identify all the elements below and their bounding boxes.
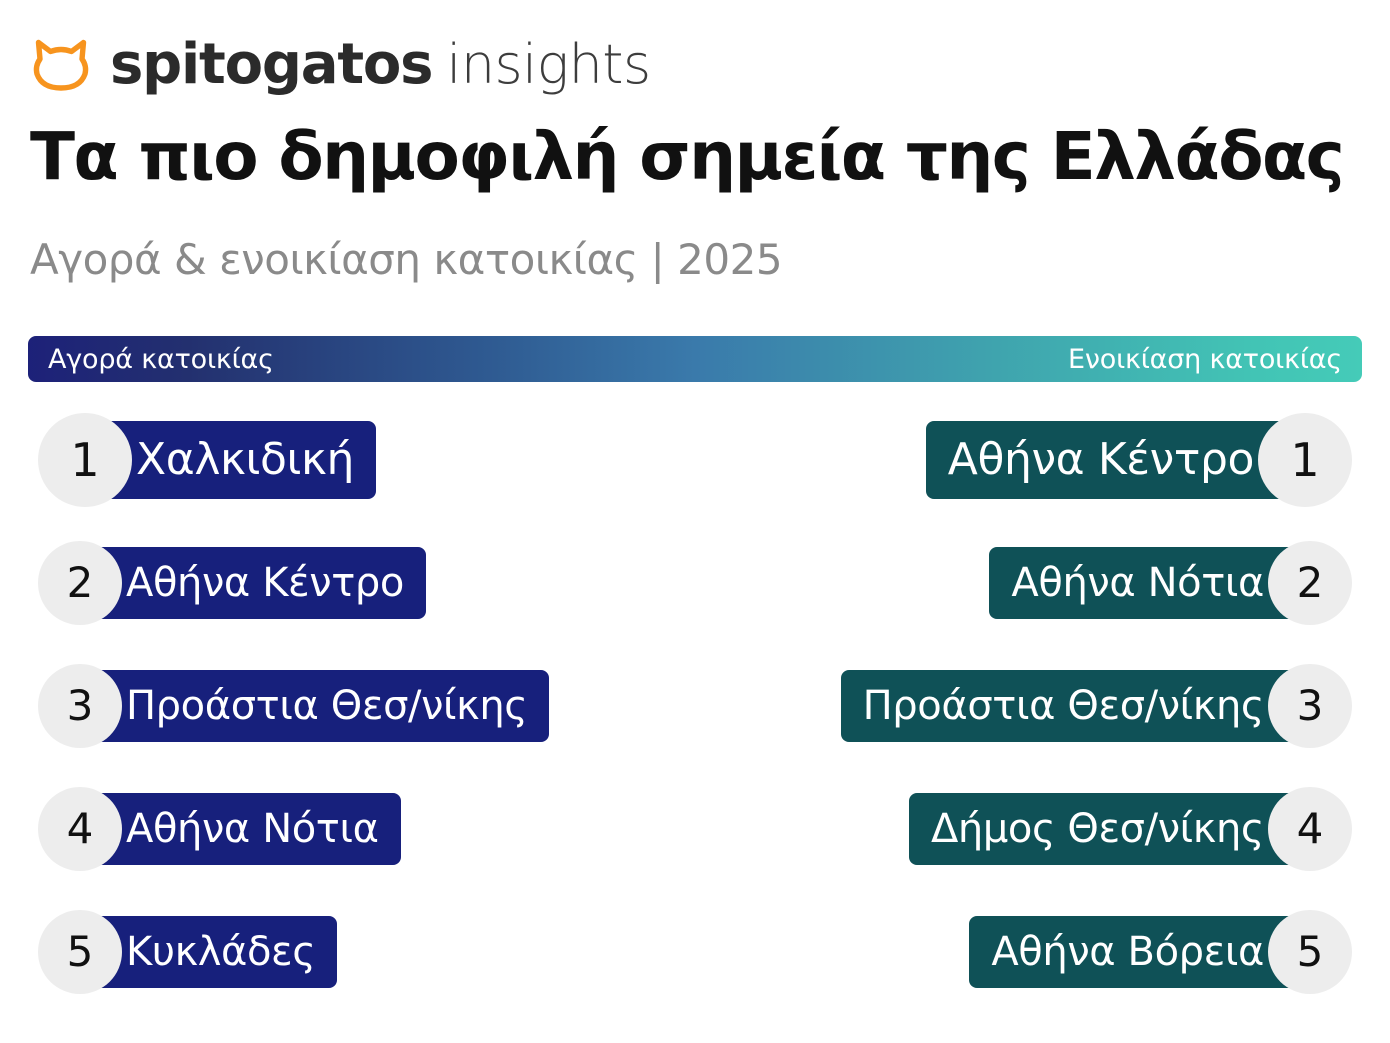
rent-entry-1: Αθήνα Κέντρο 1: [926, 398, 1352, 521]
rank-badge: 3: [1268, 664, 1352, 748]
buy-entry-2: 2 Αθήνα Κέντρο: [38, 521, 426, 644]
buy-entry-1: 1 Χαλκιδική: [38, 398, 376, 521]
page-subtitle: Αγορά & ενοικίαση κατοικίας | 2025: [30, 235, 782, 284]
table-row: 4 Αθήνα Νότια Δήμος Θεσ/νίκης 4: [0, 767, 1390, 890]
brand-product: insights: [446, 33, 650, 96]
buy-entry-3: 3 Προάστια Θεσ/νίκης: [38, 644, 549, 767]
legend-gradient-bar: Αγορά κατοικίας Ενοικίαση κατοικίας: [28, 336, 1362, 382]
buy-entry-5: 5 Κυκλάδες: [38, 890, 337, 1013]
rent-location-pill: Προάστια Θεσ/νίκης: [841, 670, 1302, 742]
brand-lockup: spitogatos insights: [30, 28, 651, 100]
table-row: 2 Αθήνα Κέντρο Αθήνα Νότια 2: [0, 521, 1390, 644]
rent-entry-3: Προάστια Θεσ/νίκης 3: [841, 644, 1352, 767]
rank-badge: 5: [1268, 910, 1352, 994]
rank-badge: 4: [1268, 787, 1352, 871]
buy-location-pill: Αθήνα Νότια: [88, 793, 401, 865]
spitogatos-cat-logo-icon: [30, 35, 92, 93]
rent-entry-5: Αθήνα Βόρεια 5: [969, 890, 1352, 1013]
brand-name: spitogatos: [110, 32, 432, 97]
table-row: 1 Χαλκιδική Αθήνα Κέντρο 1: [0, 398, 1390, 521]
ranking-columns: 1 Χαλκιδική Αθήνα Κέντρο 1 2 Αθήνα Κέντρ…: [0, 398, 1390, 1013]
buy-location-label: Αθήνα Κέντρο: [126, 560, 404, 606]
page-title: Τα πιο δημοφιλή σημεία της Ελλάδας: [30, 124, 1380, 190]
rent-location-pill: Δήμος Θεσ/νίκης: [909, 793, 1302, 865]
rent-entry-2: Αθήνα Νότια 2: [989, 521, 1352, 644]
buy-entry-4: 4 Αθήνα Νότια: [38, 767, 401, 890]
rank-badge: 1: [38, 413, 132, 507]
rank-badge: 2: [38, 541, 122, 625]
rent-location-label: Προάστια Θεσ/νίκης: [863, 683, 1264, 729]
buy-location-pill: Κυκλάδες: [88, 916, 337, 988]
rank-badge: 2: [1268, 541, 1352, 625]
rank-badge: 5: [38, 910, 122, 994]
table-row: 5 Κυκλάδες Αθήνα Βόρεια 5: [0, 890, 1390, 1013]
brand-wordmark: spitogatos insights: [110, 32, 651, 97]
buy-location-label: Προάστια Θεσ/νίκης: [126, 683, 527, 729]
rank-badge: 1: [1258, 413, 1352, 507]
rent-location-pill: Αθήνα Βόρεια: [969, 916, 1302, 988]
rent-location-label: Αθήνα Νότια: [1011, 560, 1264, 606]
rank-badge: 4: [38, 787, 122, 871]
rent-location-pill: Αθήνα Νότια: [989, 547, 1302, 619]
rent-entry-4: Δήμος Θεσ/νίκης 4: [909, 767, 1352, 890]
rent-location-label: Αθήνα Κέντρο: [948, 434, 1254, 485]
buy-location-label: Χαλκιδική: [136, 434, 354, 485]
buy-location-pill: Χαλκιδική: [98, 421, 376, 499]
rent-location-label: Αθήνα Βόρεια: [991, 929, 1264, 975]
legend-label-buy: Αγορά κατοικίας: [48, 344, 274, 375]
infographic-page: spitogatos insights Τα πιο δημοφιλή σημε…: [0, 0, 1390, 1043]
buy-location-pill: Προάστια Θεσ/νίκης: [88, 670, 549, 742]
table-row: 3 Προάστια Θεσ/νίκης Προάστια Θεσ/νίκης …: [0, 644, 1390, 767]
buy-location-label: Αθήνα Νότια: [126, 806, 379, 852]
rent-location-pill: Αθήνα Κέντρο: [926, 421, 1292, 499]
buy-location-label: Κυκλάδες: [126, 929, 315, 975]
buy-location-pill: Αθήνα Κέντρο: [88, 547, 426, 619]
legend-label-rent: Ενοικίαση κατοικίας: [1068, 344, 1342, 375]
rent-location-label: Δήμος Θεσ/νίκης: [931, 806, 1264, 852]
rank-badge: 3: [38, 664, 122, 748]
